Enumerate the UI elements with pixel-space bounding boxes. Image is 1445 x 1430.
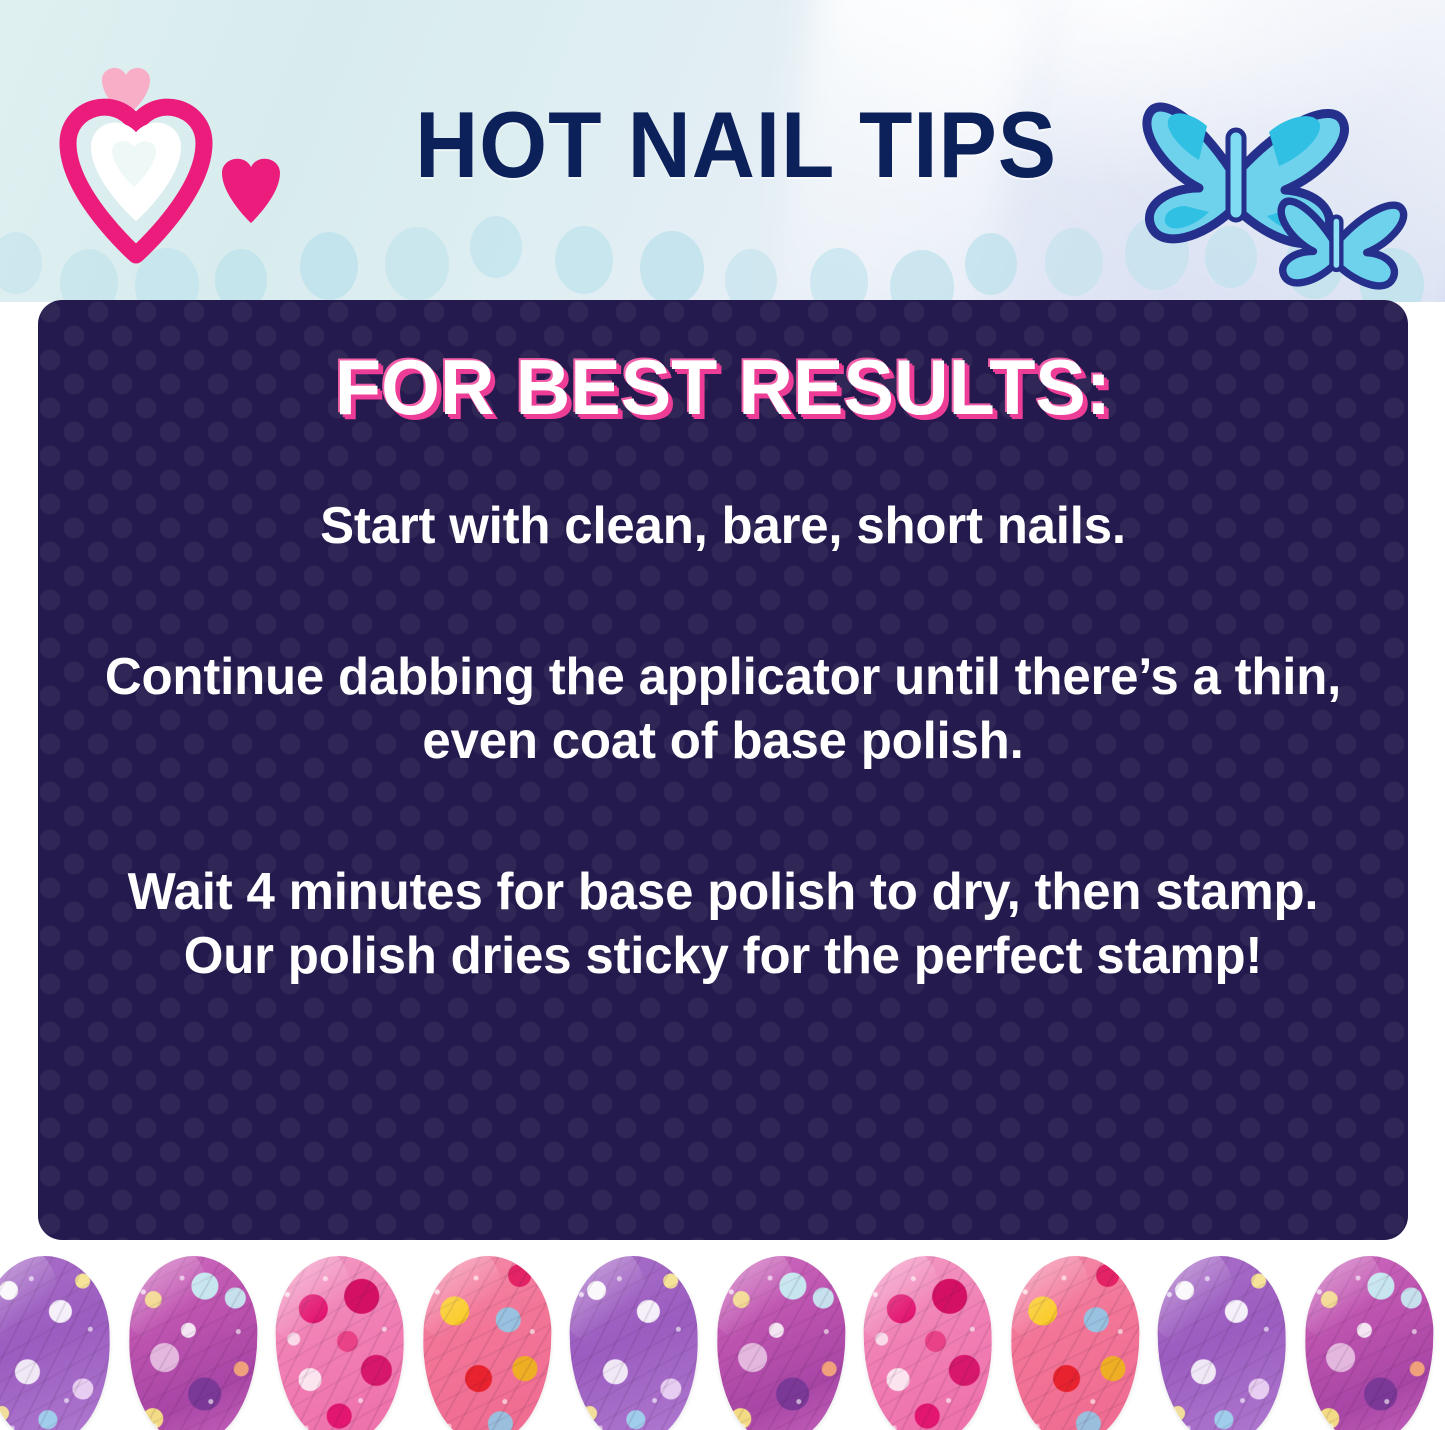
panel-heading: FOR BEST RESULTS:: [95, 300, 1350, 433]
decorative-dot: [470, 216, 522, 278]
decorative-dot: [1045, 228, 1103, 296]
nail-hearts-pink: [274, 1254, 407, 1430]
tip-paragraph-2: Continue dabbing the applicator until th…: [89, 646, 1357, 773]
nail-flower-magenta: [715, 1254, 848, 1430]
decorative-dot: [890, 250, 954, 302]
nail-butterfly-purple: [1156, 1254, 1289, 1430]
nail-butterfly-purple: [568, 1254, 701, 1430]
heart-outline-icon: [68, 107, 204, 255]
decorative-dot: [810, 248, 868, 302]
nail-butterfly-purple: [0, 1254, 112, 1430]
decorative-dot: [640, 231, 704, 302]
panel-body: Start with clean, bare, short nails. Con…: [89, 495, 1357, 988]
butterfly-small-icon: [1281, 201, 1403, 286]
nail-smiley-pink: [421, 1254, 554, 1430]
butterfly-cluster: [1135, 60, 1435, 290]
heart-small-pink-icon: [222, 159, 280, 223]
hot-nail-tips-poster: HOT NAIL TIPS FOR BEST RESULTS:: [0, 0, 1445, 1430]
poster-header: HOT NAIL TIPS: [0, 0, 1445, 302]
decorative-dot: [385, 227, 449, 301]
decorative-dot: [0, 232, 42, 294]
nail-flower-magenta: [1303, 1254, 1436, 1430]
nail-hearts-pink: [862, 1254, 995, 1430]
decorative-dot: [555, 226, 613, 294]
nail-flower-magenta: [127, 1254, 260, 1430]
tip-paragraph-1: Start with clean, bare, short nails.: [89, 495, 1357, 558]
nail-design-strip: [0, 1240, 1445, 1430]
heart-cluster: [50, 55, 320, 270]
best-results-panel: FOR BEST RESULTS: Start with clean, bare…: [38, 300, 1408, 1240]
tip-paragraph-3: Wait 4 minutes for base polish to dry, t…: [89, 861, 1357, 988]
decorative-dot: [965, 233, 1017, 295]
nail-smiley-pink: [1009, 1254, 1142, 1430]
decorative-dot: [725, 249, 777, 302]
